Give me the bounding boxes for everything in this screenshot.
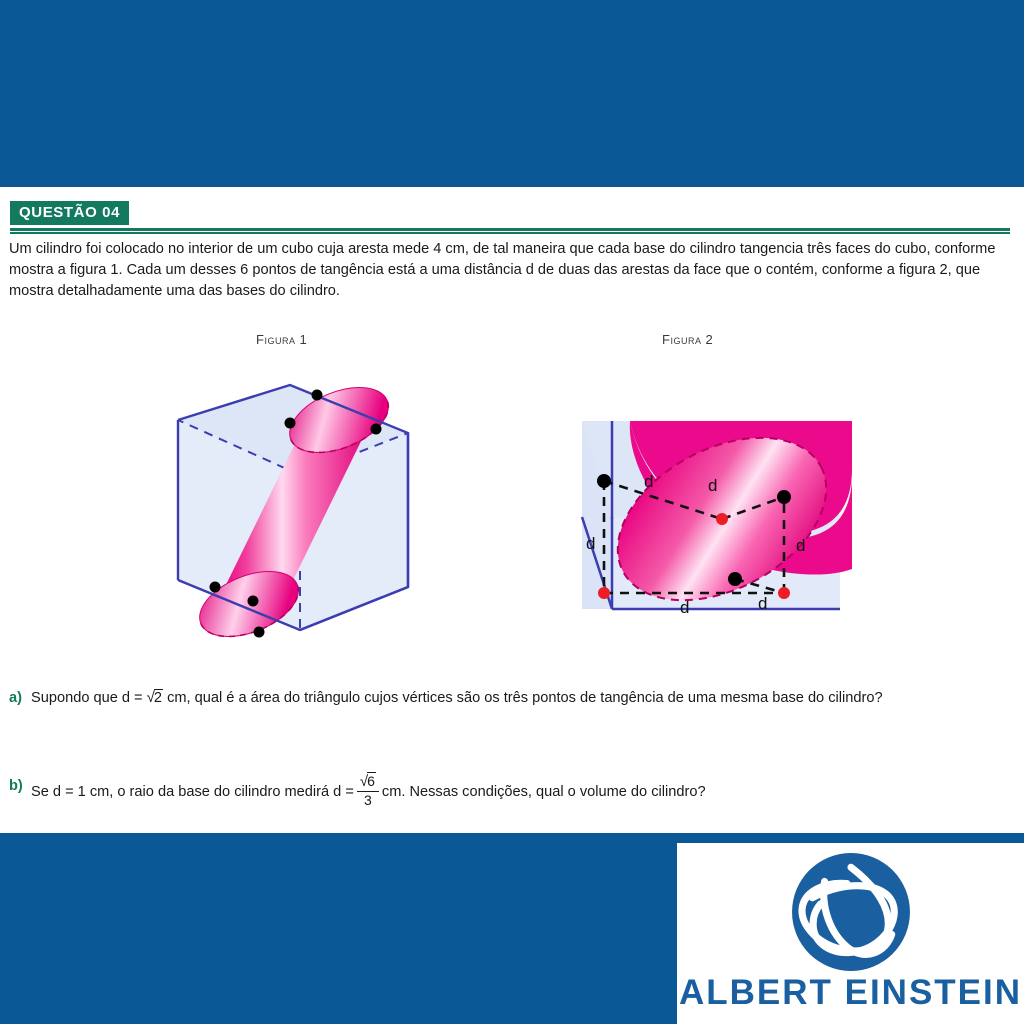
item-b-marker: b) bbox=[9, 775, 31, 797]
fraction-denominator: 3 bbox=[357, 793, 379, 808]
tangency-point bbox=[312, 390, 323, 401]
tangency-point bbox=[777, 490, 791, 504]
red-point bbox=[598, 587, 610, 599]
question-content: QUESTÃO 04 Um cilindro foi colocado no i… bbox=[0, 187, 1024, 833]
svg-text:d: d bbox=[796, 536, 805, 555]
logo-wordmark: ALBERT EINSTEIN bbox=[677, 973, 1024, 1013]
item-b: b)Se d = 1 cm, o raio da base do cilindr… bbox=[9, 775, 1019, 809]
tangency-point bbox=[597, 474, 611, 488]
tangency-point bbox=[728, 572, 742, 586]
svg-text:d: d bbox=[644, 472, 653, 491]
figure-1-svg bbox=[160, 375, 425, 645]
tangency-point bbox=[371, 424, 382, 435]
item-b-text: Se d = 1 cm, o raio da base do cilindro … bbox=[31, 775, 1006, 809]
figure-2-corner-detail: d d d d d d bbox=[572, 409, 852, 649]
svg-text:d: d bbox=[758, 594, 767, 613]
figure-2-caption: Figura 2 bbox=[662, 332, 713, 347]
figure-2-svg: d d d d d d bbox=[572, 409, 852, 649]
logo-panel: ALBERT EINSTEIN bbox=[677, 843, 1024, 1024]
fraction-numerator: √6 bbox=[357, 774, 379, 790]
figure-1-cube-cylinder bbox=[160, 375, 425, 645]
tangency-point bbox=[254, 627, 265, 638]
question-statement: Um cilindro foi colocado no interior de … bbox=[9, 239, 1015, 302]
sqrt-2-radicand: 2 bbox=[154, 689, 163, 706]
svg-text:d: d bbox=[708, 476, 717, 495]
item-b-part2: cm. Nessas condições, qual o volume do c… bbox=[382, 784, 706, 800]
header-divider-rule bbox=[10, 228, 1010, 234]
red-point bbox=[716, 513, 728, 525]
figure-1-caption: Figura 1 bbox=[256, 332, 307, 347]
item-a-part2: cm, qual é a área do triângulo cujos vér… bbox=[167, 690, 883, 706]
red-point bbox=[778, 587, 790, 599]
tangency-point bbox=[285, 418, 296, 429]
item-a-text: Supondo que d = √2 cm, qual é a área do … bbox=[31, 687, 1006, 709]
sqrt-2: √2 bbox=[143, 690, 167, 706]
item-b-part1: Se d = 1 cm, o raio da base do cilindro … bbox=[31, 784, 354, 800]
einstein-star-logo-icon bbox=[790, 851, 912, 973]
svg-text:d: d bbox=[586, 534, 595, 553]
item-a-marker: a) bbox=[9, 687, 31, 709]
item-a: a)Supondo que d = √2 cm, qual é a área d… bbox=[9, 687, 1019, 709]
tangency-point bbox=[248, 596, 259, 607]
fraction-numerator-radicand: 6 bbox=[367, 772, 376, 789]
rule-line-bottom bbox=[10, 232, 1010, 234]
header-blue-band bbox=[0, 0, 1024, 187]
svg-text:d: d bbox=[680, 598, 689, 617]
question-number-badge: QUESTÃO 04 bbox=[10, 201, 129, 225]
item-a-part1: Supondo que d = bbox=[31, 690, 143, 706]
fraction-sqrt6-over-3: √63 bbox=[357, 774, 379, 808]
figure-captions: Figura 1 Figura 2 bbox=[0, 332, 1024, 354]
tangency-point bbox=[210, 582, 221, 593]
